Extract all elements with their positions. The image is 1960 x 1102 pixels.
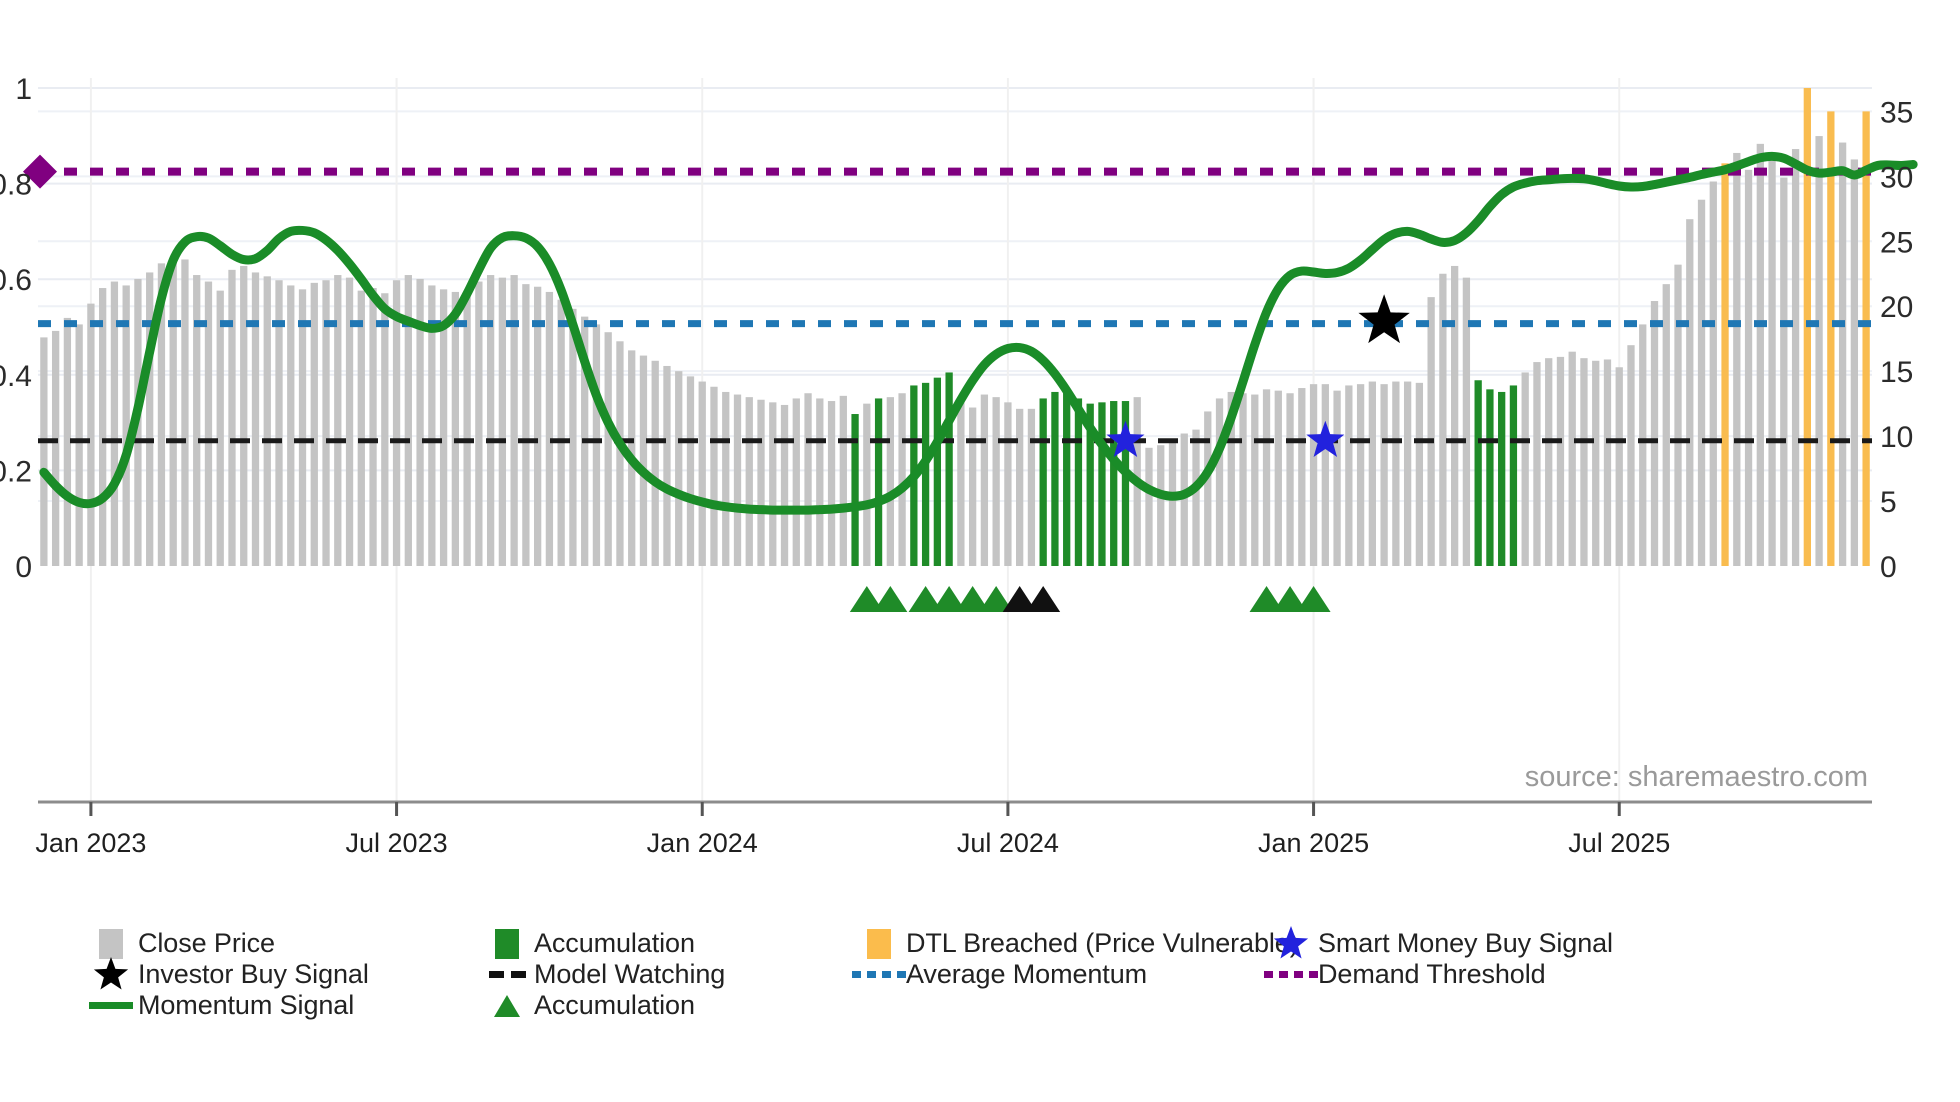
close-price-bar[interactable] xyxy=(40,337,47,566)
legend-label: Accumulation xyxy=(534,928,695,959)
close-price-bar[interactable] xyxy=(228,270,235,566)
close-price-bar[interactable] xyxy=(1192,430,1199,566)
x-axis-tick-label: Jan 2025 xyxy=(1258,828,1369,858)
close-price-bar[interactable] xyxy=(1651,301,1658,566)
accumulation-triangle-markers xyxy=(850,586,1331,612)
close-price-bar[interactable] xyxy=(558,300,565,566)
close-price-bar[interactable] xyxy=(1298,388,1305,566)
legend-label: Close Price xyxy=(138,928,275,959)
model-watching-line-icon xyxy=(480,959,534,990)
dotted-line-icon xyxy=(852,971,906,978)
close-price-bar[interactable] xyxy=(863,404,870,566)
accumulation-bar[interactable] xyxy=(1075,398,1082,566)
right-axis-tick-label: 10 xyxy=(1880,421,1913,454)
dtl-breached-swatch-icon xyxy=(852,928,906,959)
left-axis-tick-label: 1 xyxy=(15,73,32,106)
close-price-bar[interactable] xyxy=(1369,382,1376,566)
x-axis-tick-label: Jan 2023 xyxy=(35,828,146,858)
square-icon xyxy=(867,929,891,959)
close-price-bar[interactable] xyxy=(1745,170,1752,566)
close-price-bar[interactable] xyxy=(687,376,694,566)
close-price-bar[interactable] xyxy=(828,401,835,566)
close-price-bar[interactable] xyxy=(981,395,988,566)
close-price-bar[interactable] xyxy=(334,275,341,566)
dashed-line-icon xyxy=(489,971,526,978)
left-axis-tick-label: 0 xyxy=(15,551,32,584)
close-price-bar[interactable] xyxy=(1263,389,1270,566)
legend-item-accumulation-marker[interactable]: Accumulation xyxy=(480,990,852,1021)
x-axis-tick-label: Jul 2025 xyxy=(1568,828,1670,858)
right-axis-tick-label: 30 xyxy=(1880,161,1913,194)
right-axis-tick-label: 25 xyxy=(1880,226,1913,259)
close-price-bar[interactable] xyxy=(1639,324,1646,566)
close-price-bar[interactable] xyxy=(1522,372,1529,566)
close-price-bar[interactable] xyxy=(546,292,553,566)
smart-money-buy-signal-star-icon xyxy=(1264,928,1318,959)
close-price-bar[interactable] xyxy=(746,397,753,566)
close-price-bar[interactable] xyxy=(1627,345,1634,566)
investor-buy-signal-star[interactable] xyxy=(1358,294,1409,343)
close-price-bar[interactable] xyxy=(957,402,964,566)
left-axis-labels: 00.20.40.60.81 xyxy=(0,73,32,584)
close-price-bar[interactable] xyxy=(1533,362,1540,566)
close-price-bar[interactable] xyxy=(287,285,294,566)
close-price-bar[interactable] xyxy=(381,293,388,566)
accumulation-triangle-marker[interactable] xyxy=(873,586,907,612)
legend-item-demand-threshold[interactable]: Demand Threshold xyxy=(1264,959,1684,990)
accumulation-bar[interactable] xyxy=(1063,391,1070,566)
close-price-bar[interactable] xyxy=(1557,357,1564,566)
square-icon xyxy=(495,929,519,959)
close-price-bar[interactable] xyxy=(781,405,788,566)
star-icon xyxy=(1271,924,1311,964)
close-price-bar[interactable] xyxy=(640,356,647,566)
close-price-bar[interactable] xyxy=(699,382,706,566)
legend-label: DTL Breached (Price Vulnerable) xyxy=(906,928,1299,959)
close-price-bar[interactable] xyxy=(1686,219,1693,566)
close-price-bar[interactable] xyxy=(1427,297,1434,566)
close-price-bar[interactable] xyxy=(1416,383,1423,566)
right-axis-tick-label: 35 xyxy=(1880,96,1913,129)
close-price-bar[interactable] xyxy=(1698,200,1705,566)
accumulation-bar[interactable] xyxy=(945,372,952,566)
close-price-bar[interactable] xyxy=(76,324,83,566)
close-price-bar[interactable] xyxy=(1580,358,1587,566)
accumulation-bar[interactable] xyxy=(875,398,882,566)
close-price-bar[interactable] xyxy=(993,397,1000,566)
accumulation-bar[interactable] xyxy=(1051,392,1058,566)
legend-label: Momentum Signal xyxy=(138,990,354,1021)
left-axis-tick-label: 0.2 xyxy=(0,455,32,488)
demand-threshold-line-icon xyxy=(1264,959,1318,990)
dtl-breached-bar[interactable] xyxy=(1827,111,1834,566)
close-price-bar[interactable] xyxy=(1380,384,1387,566)
close-price-bar[interactable] xyxy=(734,395,741,566)
right-axis-tick-label: 5 xyxy=(1880,486,1897,519)
close-price-bar[interactable] xyxy=(1439,274,1446,566)
close-price-bar[interactable] xyxy=(1216,398,1223,566)
close-price-bar[interactable] xyxy=(722,392,729,566)
close-price-bar[interactable] xyxy=(1815,136,1822,566)
close-price-bar[interactable] xyxy=(605,332,612,566)
close-price-bar[interactable] xyxy=(1157,445,1164,566)
close-price-bar[interactable] xyxy=(663,366,670,566)
legend-label: Demand Threshold xyxy=(1318,959,1546,990)
close-price-bar[interactable] xyxy=(510,275,517,566)
close-price-bar[interactable] xyxy=(1792,149,1799,566)
close-price-bar[interactable] xyxy=(252,272,259,566)
close-price-bar[interactable] xyxy=(1333,391,1340,566)
x-axis-tick-label: Jan 2024 xyxy=(647,828,758,858)
legend-item-close-price[interactable]: Close Price xyxy=(84,928,480,959)
legend-item-average-momentum[interactable]: Average Momentum xyxy=(852,959,1264,990)
close-price-bar[interactable] xyxy=(1310,384,1317,566)
close-price-bar[interactable] xyxy=(240,266,247,566)
dtl-breached-bar[interactable] xyxy=(1862,111,1869,566)
close-price-bar[interactable] xyxy=(123,285,130,566)
close-price-bar[interactable] xyxy=(1028,409,1035,566)
close-price-bar[interactable] xyxy=(1322,384,1329,566)
close-price-bar[interactable] xyxy=(487,275,494,566)
close-price-bar[interactable] xyxy=(1404,382,1411,566)
close-price-bar[interactable] xyxy=(1275,391,1282,566)
close-price-bar[interactable] xyxy=(217,291,224,566)
close-price-bar[interactable] xyxy=(757,400,764,566)
close-price-bar[interactable] xyxy=(898,393,905,566)
close-price-bar[interactable] xyxy=(1710,182,1717,566)
close-price-bar[interactable] xyxy=(1239,393,1246,566)
close-price-bar[interactable] xyxy=(64,318,71,566)
close-price-bar[interactable] xyxy=(887,397,894,566)
close-price-bar[interactable] xyxy=(146,272,153,566)
dotted-line-icon xyxy=(1264,971,1318,978)
accumulation-bar[interactable] xyxy=(934,378,941,566)
close-price-bar[interactable] xyxy=(193,275,200,566)
close-price-bar[interactable] xyxy=(1016,409,1023,566)
close-price-bar[interactable] xyxy=(1757,144,1764,566)
source-attribution: source: sharemaestro.com xyxy=(1525,761,1868,793)
x-axis-tick-label: Jul 2023 xyxy=(346,828,448,858)
close-price-bar[interactable] xyxy=(769,402,776,566)
triangle-icon xyxy=(490,991,524,1021)
close-price-bar[interactable] xyxy=(840,396,847,566)
close-price-bar[interactable] xyxy=(99,288,106,566)
right-axis-labels: 05101520253035 xyxy=(1880,96,1913,584)
close-price-bar[interactable] xyxy=(1545,358,1552,566)
close-price-bar[interactable] xyxy=(1569,352,1576,566)
close-price-bar[interactable] xyxy=(358,291,365,566)
close-price-bar[interactable] xyxy=(1145,448,1152,566)
average-momentum-line-icon xyxy=(852,959,906,990)
chart-legend: Close PriceAccumulationDTL Breached (Pri… xyxy=(84,928,1934,1021)
close-price-bar[interactable] xyxy=(1768,161,1775,566)
close-price-bar[interactable] xyxy=(463,296,470,566)
legend-item-accumulation-bar[interactable]: Accumulation xyxy=(480,928,852,959)
close-price-bar[interactable] xyxy=(181,259,188,566)
close-price-bar[interactable] xyxy=(1616,367,1623,566)
close-price-bar[interactable] xyxy=(1674,265,1681,566)
left-axis-tick-label: 0.4 xyxy=(0,360,32,393)
close-price-bar[interactable] xyxy=(534,287,541,566)
legend-label: Investor Buy Signal xyxy=(138,959,369,990)
close-price-bar[interactable] xyxy=(299,289,306,566)
accumulation-bar[interactable] xyxy=(1486,389,1493,566)
accumulation-bar[interactable] xyxy=(1498,392,1505,566)
legend-item-smart-money-buy-signal[interactable]: Smart Money Buy Signal xyxy=(1264,928,1684,959)
accumulation-bar[interactable] xyxy=(922,383,929,566)
close-price-bar[interactable] xyxy=(710,387,717,566)
close-price-bar[interactable] xyxy=(52,331,59,566)
close-price-bar[interactable] xyxy=(675,371,682,566)
star-icon xyxy=(91,955,131,995)
accumulation-bar[interactable] xyxy=(1510,385,1517,566)
legend-item-momentum-signal[interactable]: Momentum Signal xyxy=(84,990,480,1021)
x-axis-tick-label: Jul 2024 xyxy=(957,828,1059,858)
close-price-bar[interactable] xyxy=(1592,361,1599,566)
accumulation-bar-swatch-icon xyxy=(480,928,534,959)
legend-label: Average Momentum xyxy=(906,959,1147,990)
chart-page: Jan 2023Jul 2023Jan 2024Jul 2024Jan 2025… xyxy=(0,0,1960,1102)
accumulation-triangle-marker[interactable] xyxy=(1297,586,1331,612)
close-price-bar[interactable] xyxy=(793,398,800,566)
dtl-breached-bar[interactable] xyxy=(1721,163,1728,566)
accumulation-bar[interactable] xyxy=(851,414,858,566)
left-axis-tick-label: 0.8 xyxy=(0,169,32,202)
legend-label: Model Watching xyxy=(534,959,725,990)
right-axis-tick-label: 20 xyxy=(1880,291,1913,324)
close-price-bar[interactable] xyxy=(87,304,94,566)
close-price-bar[interactable] xyxy=(1392,382,1399,566)
close-price-bar[interactable] xyxy=(1851,159,1858,566)
close-price-bar[interactable] xyxy=(1169,441,1176,566)
legend-item-model-watching[interactable]: Model Watching xyxy=(480,959,852,990)
accumulation-bar[interactable] xyxy=(1110,401,1117,566)
investor-buy-markers xyxy=(1358,294,1409,343)
accumulation-bar[interactable] xyxy=(1475,380,1482,566)
close-price-bar[interactable] xyxy=(1451,266,1458,566)
accumulation-marker-triangle-icon xyxy=(480,990,534,1021)
investor-buy-signal-star-icon xyxy=(84,959,138,990)
line-icon xyxy=(89,1002,133,1009)
model-watching-triangle-markers xyxy=(1003,586,1061,612)
close-price-bar[interactable] xyxy=(1204,411,1211,566)
momentum-signal-line-icon xyxy=(84,990,138,1021)
model-watching-triangle-marker[interactable] xyxy=(1026,586,1060,612)
close-price-bar[interactable] xyxy=(1357,384,1364,566)
close-price-bar[interactable] xyxy=(652,361,659,566)
close-price-bar[interactable] xyxy=(816,398,823,566)
legend-item-dtl-breached[interactable]: DTL Breached (Price Vulnerable) xyxy=(852,928,1264,959)
close-price-bar[interactable] xyxy=(1733,153,1740,566)
close-price-bar[interactable] xyxy=(1251,395,1258,566)
close-price-bar[interactable] xyxy=(969,408,976,566)
close-price-bar[interactable] xyxy=(1663,284,1670,566)
close-price-bar[interactable] xyxy=(499,278,506,566)
close-price-bar[interactable] xyxy=(1345,385,1352,566)
close-price-bar[interactable] xyxy=(393,280,400,566)
close-price-bar[interactable] xyxy=(264,276,271,566)
close-price-bar[interactable] xyxy=(311,283,318,566)
close-price-bar[interactable] xyxy=(1004,402,1011,566)
legend-label: Smart Money Buy Signal xyxy=(1318,928,1613,959)
legend-label: Accumulation xyxy=(534,990,695,1021)
accumulation-bar[interactable] xyxy=(1040,398,1047,566)
right-axis-tick-label: 0 xyxy=(1880,551,1897,584)
left-axis-tick-label: 0.6 xyxy=(0,264,32,297)
close-price-bar[interactable] xyxy=(1780,178,1787,566)
close-price-bar[interactable] xyxy=(452,292,459,566)
legend-item-investor-buy-signal[interactable]: Investor Buy Signal xyxy=(84,959,480,990)
close-price-bar[interactable] xyxy=(1604,359,1611,566)
close-price-bar[interactable] xyxy=(522,284,529,566)
x-axis-ticks: Jan 2023Jul 2023Jan 2024Jul 2024Jan 2025… xyxy=(35,802,1670,858)
right-axis-tick-label: 15 xyxy=(1880,356,1913,389)
close-price-bar[interactable] xyxy=(170,261,177,566)
close-price-bar[interactable] xyxy=(593,324,600,566)
close-price-bar[interactable] xyxy=(369,288,376,566)
close-price-bar[interactable] xyxy=(1286,393,1293,566)
close-price-bar[interactable] xyxy=(1839,143,1846,566)
accumulation-bar[interactable] xyxy=(1098,402,1105,566)
close-price-bar[interactable] xyxy=(804,393,811,566)
